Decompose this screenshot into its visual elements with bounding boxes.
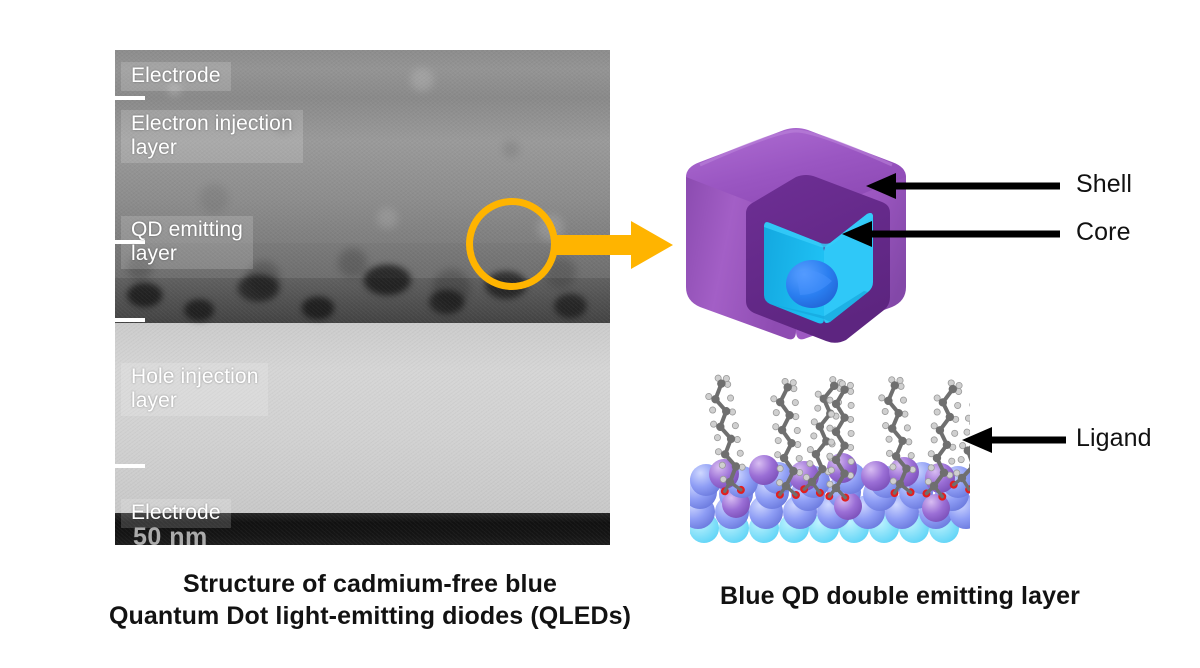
shell-label: Shell [1076, 170, 1132, 199]
tem-band-qd-emitting-dark [115, 278, 610, 323]
zoom-arrow-icon [553, 219, 675, 271]
tem-label-qd-emitting-layer: QD emitting layer [121, 216, 253, 269]
zoom-circle-icon [466, 198, 558, 290]
tem-label-hole-injection-layer: Hole injection layer [121, 363, 268, 416]
tem-tick-4 [115, 464, 145, 468]
ligand-callout-arrow [958, 424, 1066, 456]
tem-scale-bar-label: 50 nm [133, 523, 208, 545]
tem-band-hole-injection [115, 323, 610, 513]
tem-tick-3 [115, 318, 145, 322]
tem-label-electron-injection-layer: Electron injection layer [121, 110, 303, 163]
ligand-surface-diagram [690, 360, 970, 550]
tem-tick-1 [115, 96, 145, 100]
core-label: Core [1076, 218, 1131, 247]
right-caption: Blue QD double emitting layer [700, 580, 1100, 612]
ligand-label: Ligand [1076, 424, 1152, 453]
tem-cross-section-image: Electrode Electron injection layer QD em… [115, 50, 610, 545]
core-callout-arrow [838, 218, 1060, 250]
shell-callout-arrow [862, 170, 1060, 202]
left-caption: Structure of cadmium-free blue Quantum D… [60, 568, 680, 632]
tem-label-electrode-top: Electrode [121, 62, 231, 91]
